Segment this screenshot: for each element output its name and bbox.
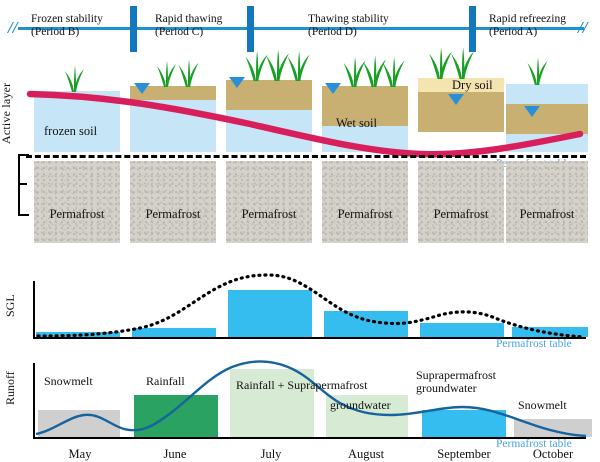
period-separator-2: [247, 6, 254, 52]
month-label-july: July: [236, 447, 306, 462]
period-name: Thawing stability: [308, 13, 389, 26]
period-sub: (Period C): [155, 26, 222, 39]
period-item-frozen-stability: Frozen stability (Period B): [31, 13, 103, 38]
permafrost-label: Permafrost: [506, 207, 588, 222]
permafrost-block-august: Permafrost: [322, 161, 408, 243]
runoff-label-snowmelt-may: Snowmelt: [44, 375, 93, 388]
permafrost-label: Permafrost: [322, 207, 408, 222]
sgl-panel: SGL Permafrost table: [0, 273, 600, 355]
period-sub: (Period D): [308, 26, 389, 39]
permafrost-block-september: Permafrost: [418, 161, 504, 243]
runoff-label-rainfall-june: Rainfall: [146, 375, 185, 388]
period-name: Rapid refreezing: [489, 13, 566, 26]
permafrost-block-may: Permafrost: [34, 161, 120, 243]
permafrost-block-june: Permafrost: [130, 161, 216, 243]
runoff-label-groundwater-august: groundwater: [330, 399, 391, 412]
period-separator-3: [469, 6, 476, 52]
month-label-august: August: [331, 447, 401, 462]
period-separator-1: [130, 6, 137, 52]
permafrost-table-label-sgl: Permafrost table: [496, 338, 572, 350]
axis-break-right-icon: //: [578, 18, 587, 38]
period-name: Rapid thawing: [155, 13, 222, 26]
runoff-label-suprapermafrost-groundwater-september: Suprapermafrost groundwater: [416, 369, 536, 395]
runoff-label-snowmelt-october: Snowmelt: [518, 399, 567, 412]
permafrost-block-october: Permafrost: [506, 161, 588, 243]
period-sub: (Period B): [31, 26, 103, 39]
runoff-label-rainfall-suprapermafrost-july: Rainfall + Suprapermafrost: [236, 379, 386, 392]
soil-profile-panel: Active layer: [0, 58, 600, 273]
period-band: // // Frozen stability (Period B) Rapid …: [0, 0, 600, 58]
dry-soil-label: Dry soil: [452, 78, 493, 93]
period-name: Frozen stability: [31, 13, 103, 26]
axis-break-left-icon: //: [8, 18, 17, 38]
period-sub: (Period A): [489, 26, 566, 39]
month-label-june: June: [140, 447, 210, 462]
month-label-october: October: [518, 447, 588, 462]
permafrost-label: Permafrost: [226, 207, 312, 222]
period-item-thawing-stability: Thawing stability (Period D): [308, 13, 389, 38]
permafrost-block-july: Permafrost: [226, 161, 312, 243]
permafrost-label: Permafrost: [130, 207, 216, 222]
period-item-rapid-thawing: Rapid thawing (Period C): [155, 13, 222, 38]
permafrost-label: Permafrost: [34, 207, 120, 222]
runoff-panel: Runoff Snowmelt Rainfall Rainfall + Supr…: [0, 355, 600, 450]
frozen-soil-label: frozen soil: [44, 124, 97, 139]
permafrost-label: Permafrost: [418, 207, 504, 222]
wet-soil-label: Wet soil: [336, 116, 377, 131]
month-label-may: May: [45, 447, 115, 462]
month-label-september: September: [424, 447, 504, 462]
period-item-rapid-refreezing: Rapid refreezing (Period A): [489, 13, 566, 38]
